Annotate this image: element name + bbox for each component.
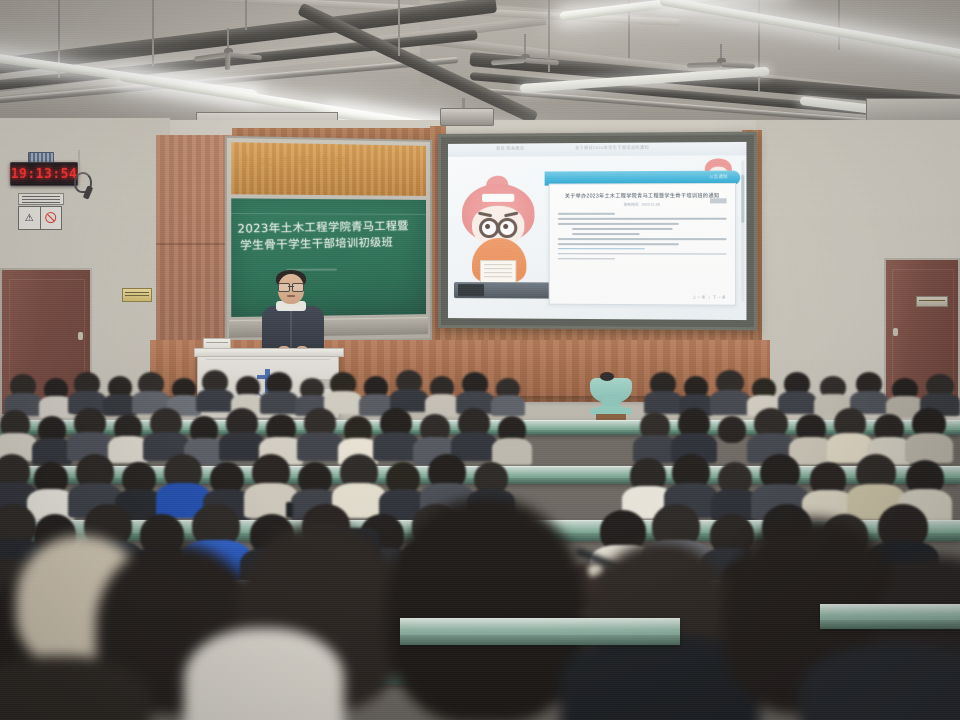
- audience-member: [74, 408, 106, 458]
- wall-led-clock: 19:13:54: [10, 162, 78, 186]
- chalkboard-text: 2023年土木工程学院青马工程暨 学生骨干学生干部培训初级班: [237, 218, 422, 254]
- room-notice-plaque: [122, 288, 152, 302]
- clock-time-display: 19:13:54: [11, 168, 78, 181]
- foreground-shoulder: [184, 628, 344, 720]
- audience-member: [252, 454, 290, 514]
- raised-phone: [286, 502, 293, 518]
- doc-line: [558, 243, 679, 245]
- pipe-hanger-4: [398, 0, 400, 56]
- doc-line: [558, 218, 727, 220]
- document-footer: 上一条 | 下一条: [692, 295, 726, 300]
- door-knob[interactable]: [893, 328, 898, 336]
- notice-document: 关于举办2023年土木工程学院青马工程暨学生骨干培训班的通知 发布时间：2023…: [549, 183, 736, 306]
- audience-member: [266, 372, 292, 412]
- audience-member: [498, 416, 526, 462]
- chalkboard-wood-header: 土木工程学院: [231, 142, 426, 196]
- chalk-line-2: 学生骨干学生干部培训初级班: [240, 234, 422, 254]
- audience-member: [330, 372, 356, 412]
- projected-webpage: 首页 院系概况 关于做好2024年学生干部培训的通知 公告通知: [448, 142, 747, 320]
- audience-member: [796, 414, 826, 462]
- audience-member: [0, 410, 30, 458]
- document-subtitle: 发布时间：2023-11-28: [558, 202, 727, 207]
- warning-icon: ⚠: [19, 207, 40, 229]
- doc-line: [558, 238, 727, 240]
- topbar-right-label: 关于做好2024年学生干部培训的通知: [575, 145, 649, 152]
- instruction-sign: [18, 193, 64, 205]
- ceiling-fan-1: [188, 28, 268, 68]
- doc-line: [558, 258, 615, 260]
- audience-member: [202, 370, 228, 410]
- pipe-hanger-2: [152, 0, 154, 66]
- audience-member: [74, 372, 100, 412]
- audience-member: [10, 374, 36, 414]
- audience-member: [304, 408, 336, 458]
- document-title: 关于举办2023年土木工程学院青马工程暨学生骨干培训班的通知: [558, 193, 727, 201]
- audience-member: [114, 414, 142, 460]
- right-door-plaque: [916, 296, 948, 307]
- attachment-badge[interactable]: [710, 198, 727, 203]
- audience-member: [108, 376, 132, 414]
- ceiling-fan-2: [490, 34, 560, 70]
- audience-member: [640, 412, 670, 460]
- ceiling-fan-3: [688, 44, 754, 78]
- audience-member: [912, 408, 946, 460]
- audience-member: [462, 372, 488, 412]
- audience-member: [34, 462, 68, 518]
- audience-member: [396, 370, 422, 410]
- no-smoking-icon: 🚫: [40, 207, 62, 229]
- ceiling-projector: [440, 108, 494, 126]
- audience-member: [716, 370, 744, 412]
- projection-screen: 首页 院系概况 关于做好2024年学生干部培训的通知 公告通知: [438, 132, 757, 331]
- foreground-head: [386, 498, 586, 720]
- pipe-hanger-3: [245, 0, 247, 30]
- audience-member: [496, 378, 520, 414]
- audience-member: [678, 408, 710, 460]
- webpage-scrollbar[interactable]: [741, 160, 744, 301]
- desk-front-edge-right: [820, 604, 960, 629]
- doc-line: [572, 228, 673, 230]
- audience-member: [226, 408, 258, 458]
- audience-member: [810, 462, 846, 520]
- audience-member: [718, 462, 752, 518]
- doc-line: [558, 213, 615, 215]
- pipe-hanger-8: [838, 0, 840, 50]
- desk-front-edge: [400, 618, 680, 645]
- audience-member: [44, 378, 68, 416]
- audience-member: [834, 408, 866, 460]
- chalk-line-1: 2023年土木工程学院青马工程暨: [237, 219, 408, 235]
- audience-member: [856, 372, 882, 412]
- lecture-hall-photo: 19:13:54 ⚠ 🚫 土木工程学院 2023年土木工程学院青马工程暨 学生骨…: [0, 0, 960, 720]
- presenter-at-lectern: [258, 268, 328, 360]
- audience-member: [754, 408, 788, 460]
- doc-line: [558, 248, 645, 250]
- green-chalkboard: 土木工程学院 2023年土木工程学院青马工程暨 学生骨干学生干部培训初级班: [225, 136, 432, 344]
- audience-member: [458, 408, 490, 458]
- audience-member: [38, 416, 66, 462]
- audience-member: [650, 372, 676, 412]
- lectern-top: [194, 348, 344, 357]
- doc-line: [572, 233, 639, 235]
- no-smoking-sign: ⚠ 🚫: [18, 206, 62, 230]
- banner-text: 公告通知: [709, 174, 727, 180]
- audience-member: [430, 376, 454, 414]
- webpage-topbar: 首页 院系概况 关于做好2024年学生干部培训的通知: [448, 142, 747, 157]
- header-ghost-text: 土木工程学院: [240, 151, 418, 188]
- audience-member: [138, 372, 164, 412]
- door-knob[interactable]: [78, 332, 83, 340]
- mascot-eye-right: [497, 218, 517, 238]
- audience-member: [718, 416, 746, 462]
- red-haired-cartoon-mascot: [456, 178, 545, 297]
- audience-member: [380, 408, 412, 458]
- audience-member: [150, 408, 182, 458]
- mascot-eye-left: [479, 218, 499, 238]
- mascot-laptop: [454, 282, 555, 299]
- audience-member: [784, 372, 810, 412]
- topbar-left-label: 首页 院系概况: [496, 145, 524, 151]
- glasses-icon: [278, 283, 304, 290]
- doc-line: [558, 223, 679, 225]
- student-audience: [0, 368, 960, 720]
- doc-line: [558, 253, 727, 255]
